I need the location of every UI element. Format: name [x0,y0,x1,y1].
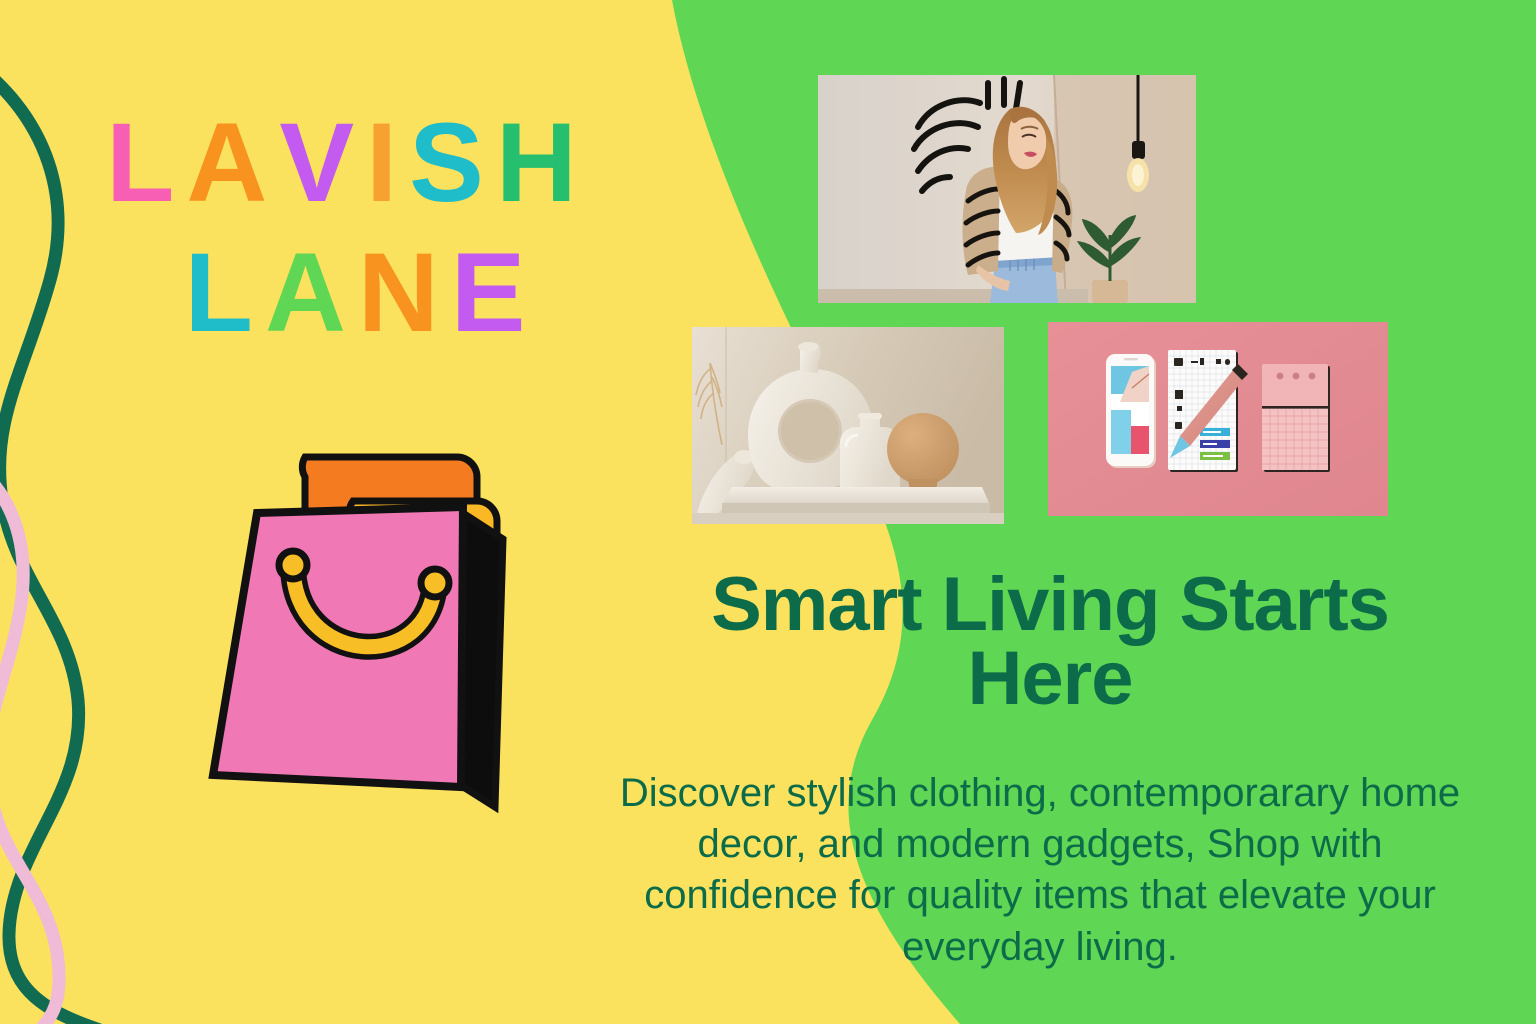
brand-letter-A2: A [265,238,358,348]
brand-letter-H: H [496,108,589,218]
smartphone-icon [1106,354,1156,468]
brand-letter-V: V [279,108,366,218]
page-title: Smart Living Starts Here [655,568,1445,717]
white-shelf [722,487,990,513]
body-copy: Discover stylish clothing, contemporarar… [598,768,1482,973]
shopping-bag-illustration [195,435,545,830]
brand-logo-line-1: L A V I S H [106,108,626,218]
brand-logo-line-2: L A N E [106,238,626,348]
brand-letter-L2: L [185,238,265,348]
grid-notebook-icon [1168,350,1248,472]
brand-letter-E: E [451,238,538,348]
photo-fashion [818,75,1196,303]
brand-letter-I: I [366,108,409,218]
poster-canvas: L A V I S H L A N E [0,0,1536,1024]
photo-home-decor [692,327,1004,524]
brand-letter-N: N [358,238,451,348]
brand-logo: L A V I S H L A N E [106,108,626,348]
brand-letter-S: S [409,108,496,218]
brand-letter-A1: A [186,108,279,218]
brand-letter-L1: L [106,108,186,218]
photo-gadgets [1048,322,1388,516]
notepad-icon [1262,364,1330,472]
